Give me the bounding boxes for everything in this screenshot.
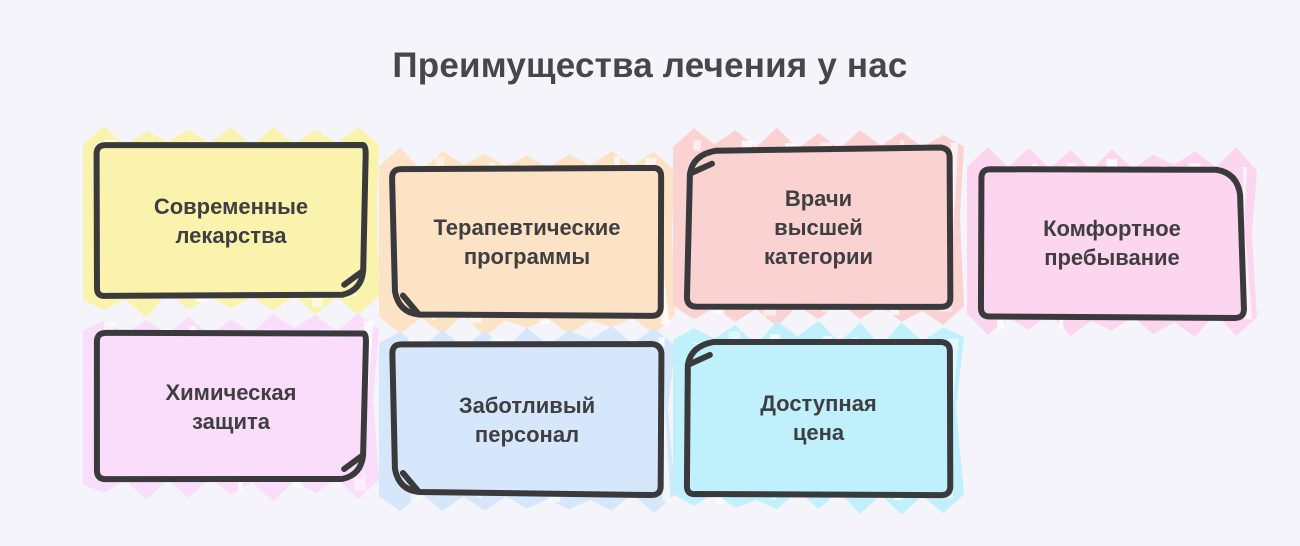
benefit-cards-grid: Современные лекарстваТерапевтические про… [0,0,1300,546]
infographic-page: Преимущества лечения у нас Современные л… [0,0,1300,546]
benefit-card-label: Современные лекарства [97,192,365,251]
benefit-card-label: Терапевтические программы [393,212,661,271]
benefit-card-label: Химическая защита [97,377,365,436]
benefit-card-label: Комфортное пребывание [981,214,1243,273]
benefit-card-sovremennye-lekarstva[interactable]: Современные лекарства [97,146,365,296]
benefit-card-zabotlivyy-personal[interactable]: Заботливый персонал [393,345,661,494]
benefit-card-komfortnoe-prebyvanie[interactable]: Комфортное пребывание [981,169,1243,317]
benefit-card-label: Заботливый персонал [393,390,661,449]
benefit-card-vrachi-vysshey-kategorii[interactable]: Врачи высшей категории [687,149,950,306]
benefit-card-label: Доступная цена [687,389,950,448]
benefit-card-himicheskaya-zashchita[interactable]: Химическая защита [97,333,365,480]
benefit-card-label: Врачи высшей категории [687,184,950,272]
benefit-card-dostupnaya-tsena[interactable]: Доступная цена [687,342,950,494]
benefit-card-terapevticheskie-programmy[interactable]: Терапевтические программы [393,168,661,315]
